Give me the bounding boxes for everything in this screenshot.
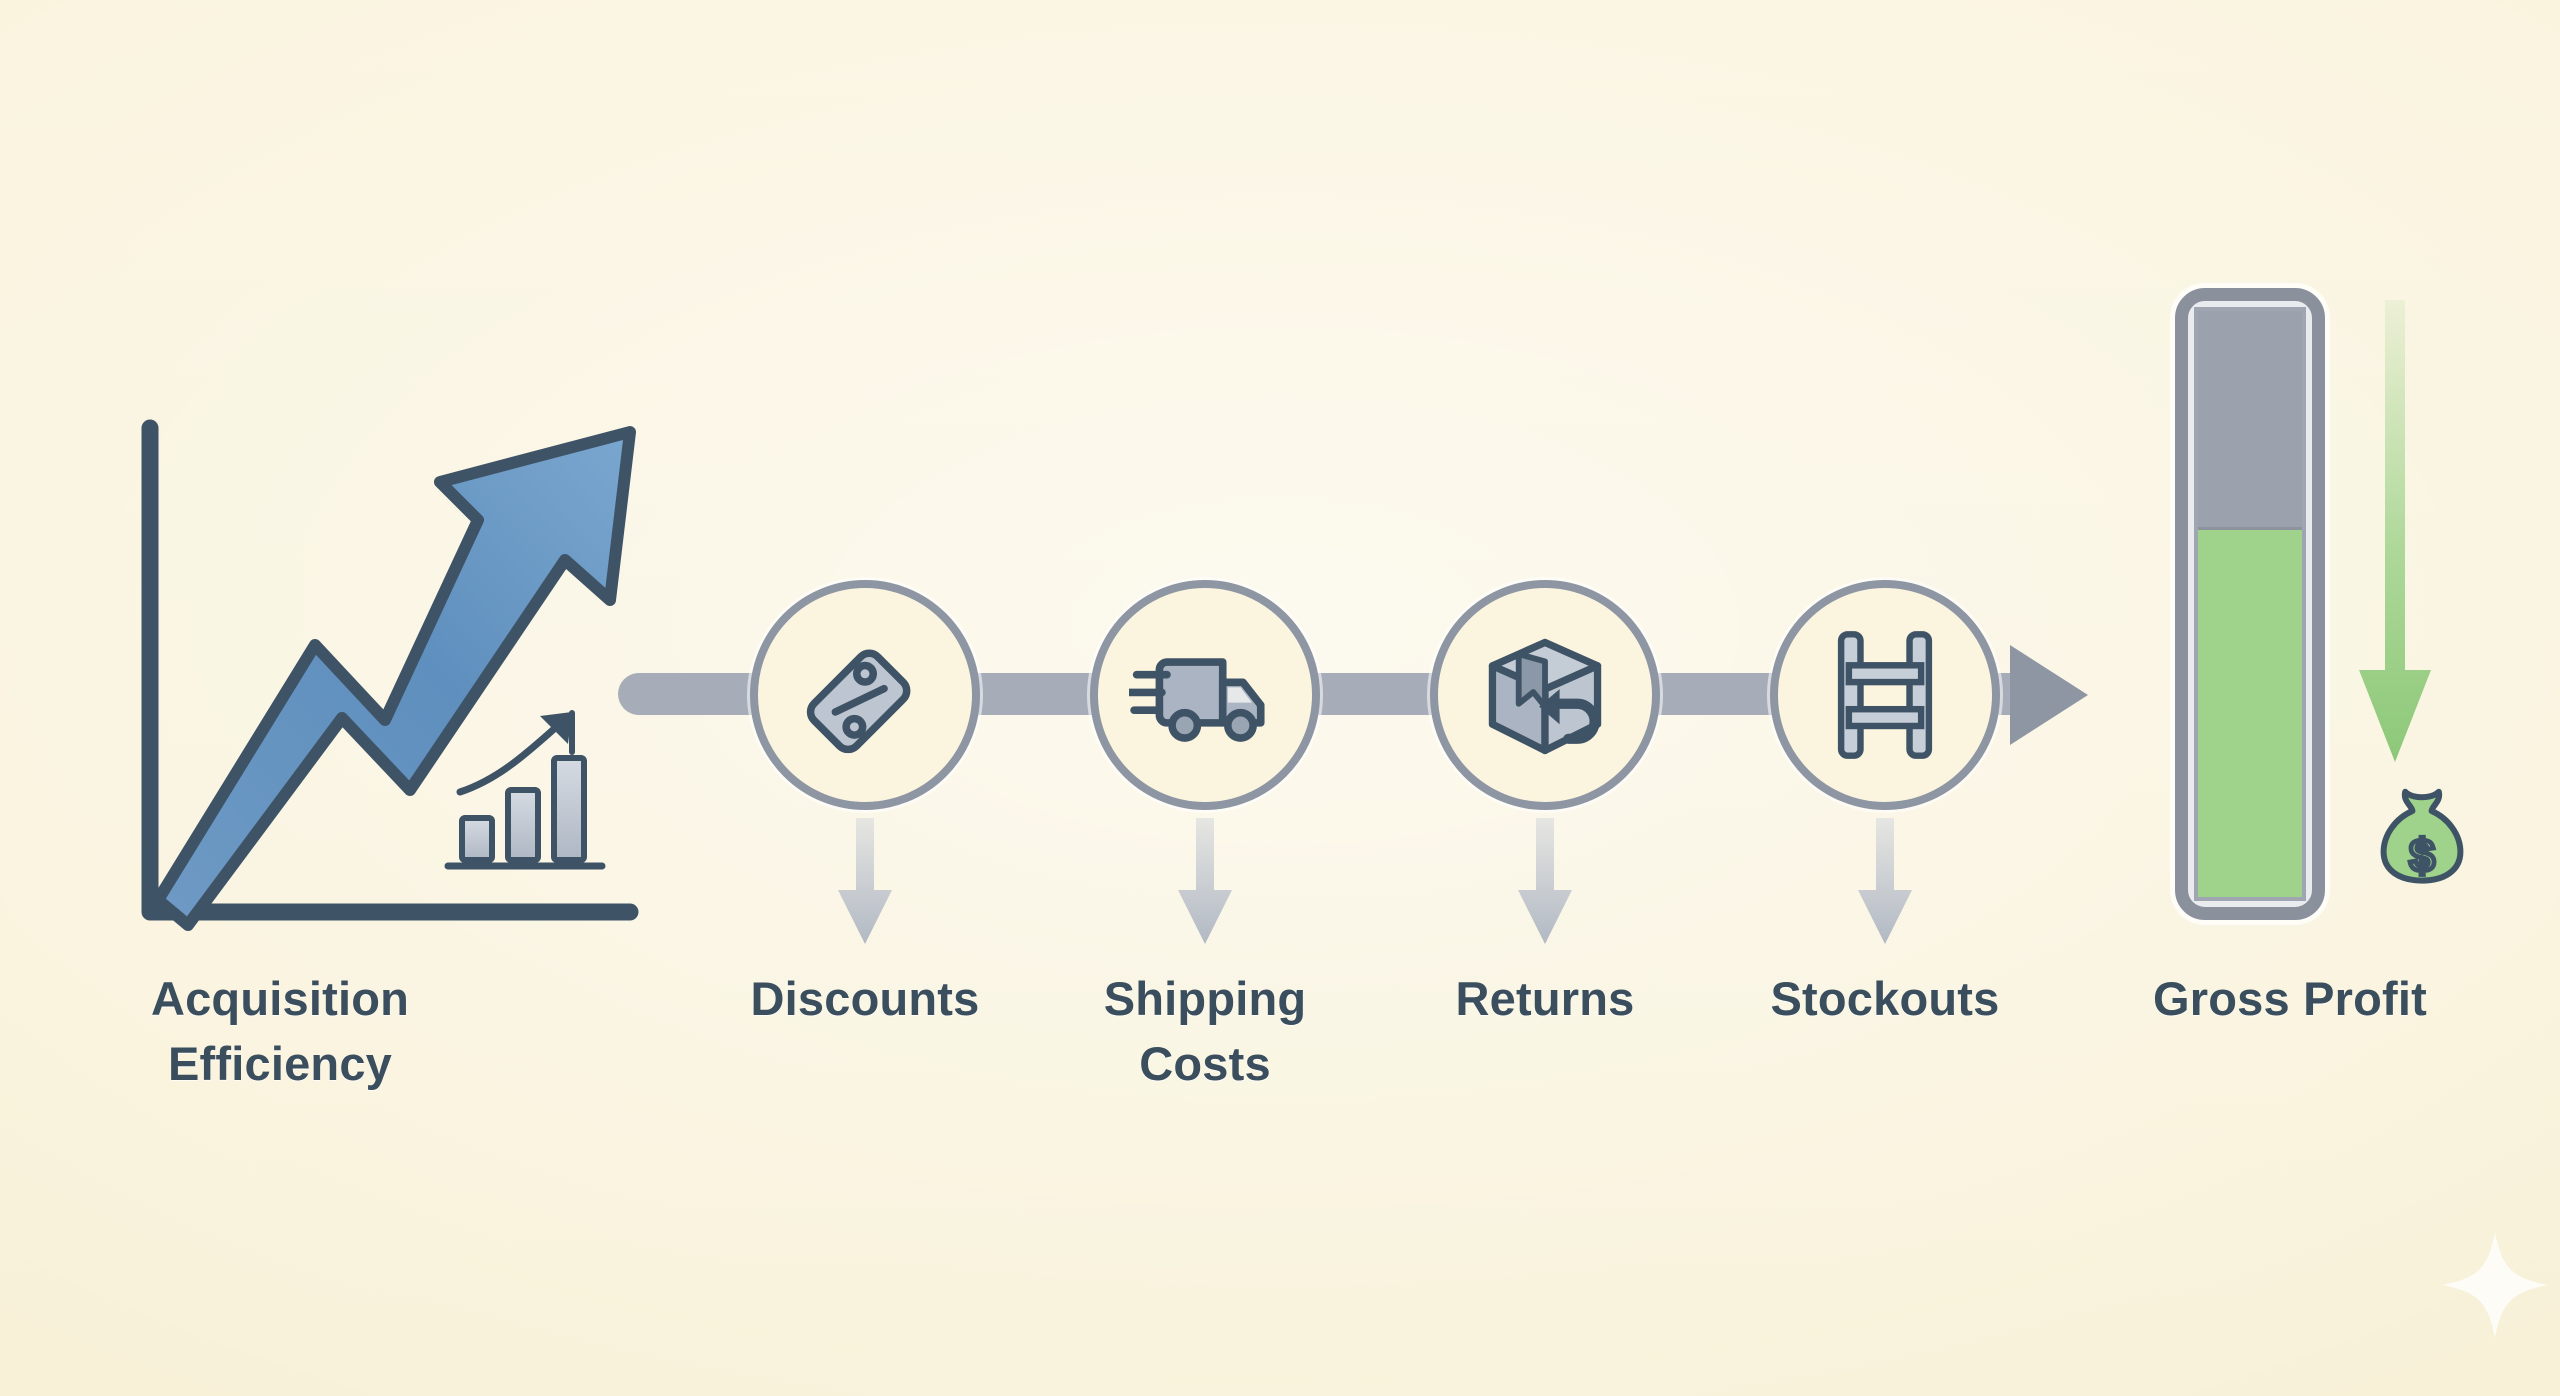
discount-tag-icon [790, 620, 940, 770]
empty-shelf-icon [1818, 624, 1952, 766]
profit-gauge-icon [2175, 288, 2325, 920]
down-arrow-stockouts [1854, 818, 1916, 946]
step-node-stockouts[interactable] [1770, 580, 2000, 810]
down-arrow-shipping-costs [1174, 818, 1236, 946]
label-acquisition-efficiency: Acquisition Efficiency [90, 975, 470, 1087]
gauge-track [2194, 307, 2306, 901]
flow-connector-arrowhead [2010, 645, 2088, 745]
label-line-1: Stockouts [1771, 972, 2000, 1025]
label-line-1: Gross Profit [2153, 972, 2427, 1025]
gauge-empty-segment [2198, 311, 2302, 527]
delivery-truck-icon [1129, 629, 1281, 761]
step-node-returns[interactable] [1430, 580, 1660, 810]
return-box-icon [1472, 622, 1618, 768]
label-stockouts: Stockouts [1695, 975, 2075, 1022]
profit-down-arrow-icon [2345, 300, 2445, 770]
label-returns: Returns [1355, 975, 1735, 1022]
down-arrow-returns [1514, 818, 1576, 946]
label-line-2: Efficiency [90, 1040, 470, 1087]
step-node-discounts[interactable] [750, 580, 980, 810]
sparkle-icon [2435, 1225, 2555, 1345]
down-arrow-discounts [834, 818, 896, 946]
label-line-1: Shipping [1104, 972, 1307, 1025]
label-gross-profit: Gross Profit [2090, 975, 2490, 1022]
label-line-1: Discounts [751, 972, 980, 1025]
gauge-filled-segment [2198, 527, 2302, 897]
label-line-1: Returns [1456, 972, 1635, 1025]
step-node-shipping-costs[interactable] [1090, 580, 1320, 810]
label-line-2: Costs [1015, 1040, 1395, 1087]
diagram-canvas: $ Acquisition Efficiency Discounts Shipp… [0, 0, 2560, 1396]
label-discounts: Discounts [675, 975, 1055, 1022]
label-shipping-costs: Shipping Costs [1015, 975, 1395, 1087]
growth-chart-icon [110, 400, 670, 960]
currency-symbol: $ [2409, 830, 2434, 881]
label-line-1: Acquisition [151, 972, 409, 1025]
money-bag-icon: $ [2362, 775, 2482, 895]
